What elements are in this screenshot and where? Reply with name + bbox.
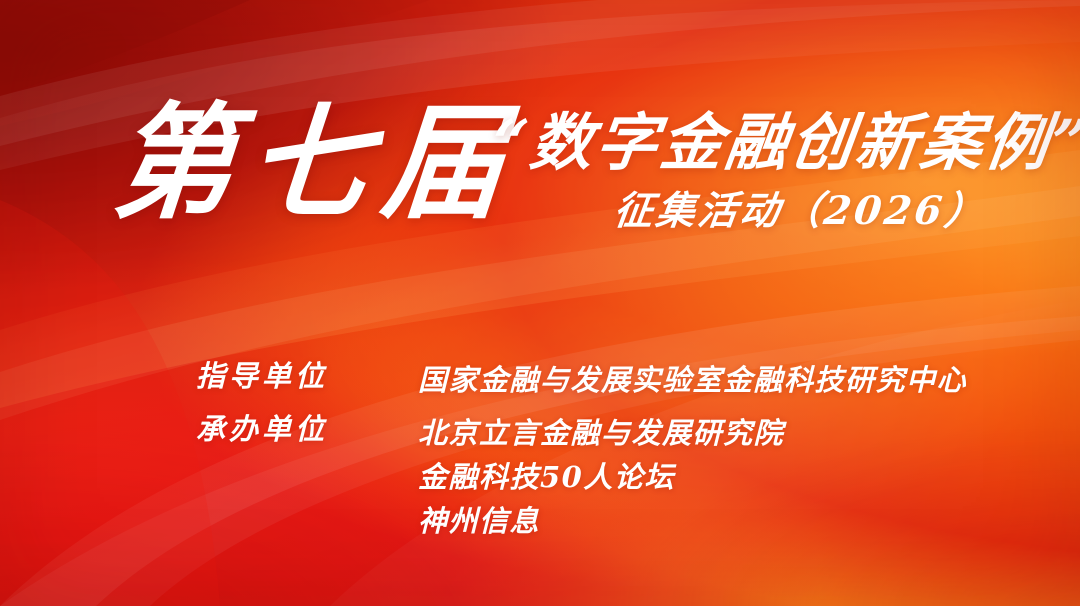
- credits-block: 指导单位 国家金融与发展实验室金融科技研究中心 承办单位 北京立言金融与发展研究…: [196, 358, 967, 552]
- credits-values-host: 北京立言金融与发展研究院 金融科技50人论坛 神州信息: [418, 411, 784, 543]
- poster-canvas: 第七届 “数字金融创新案例” 征集活动（2026） 指导单位 国家金融与发展实验…: [0, 0, 1080, 606]
- title-subtitle-year: 征集活动（2026）: [612, 192, 989, 231]
- credits-label-host: 承办单位: [196, 411, 418, 448]
- credits-org: 金融科技50人论坛: [418, 455, 784, 499]
- title-theme-quoted: “数字金融创新案例”: [488, 112, 1080, 174]
- credits-org: 神州信息: [418, 499, 784, 543]
- credits-label-guidance: 指导单位: [196, 358, 418, 395]
- credits-row-guidance: 指导单位 国家金融与发展实验室金融科技研究中心: [196, 358, 967, 402]
- credits-values-guidance: 国家金融与发展实验室金融科技研究中心: [418, 358, 967, 402]
- credits-org: 北京立言金融与发展研究院: [418, 411, 784, 455]
- credits-org: 国家金融与发展实验室金融科技研究中心: [418, 358, 967, 402]
- credits-row-host: 承办单位 北京立言金融与发展研究院 金融科技50人论坛 神州信息: [196, 411, 967, 543]
- title-ordinal: 第七届: [109, 100, 524, 225]
